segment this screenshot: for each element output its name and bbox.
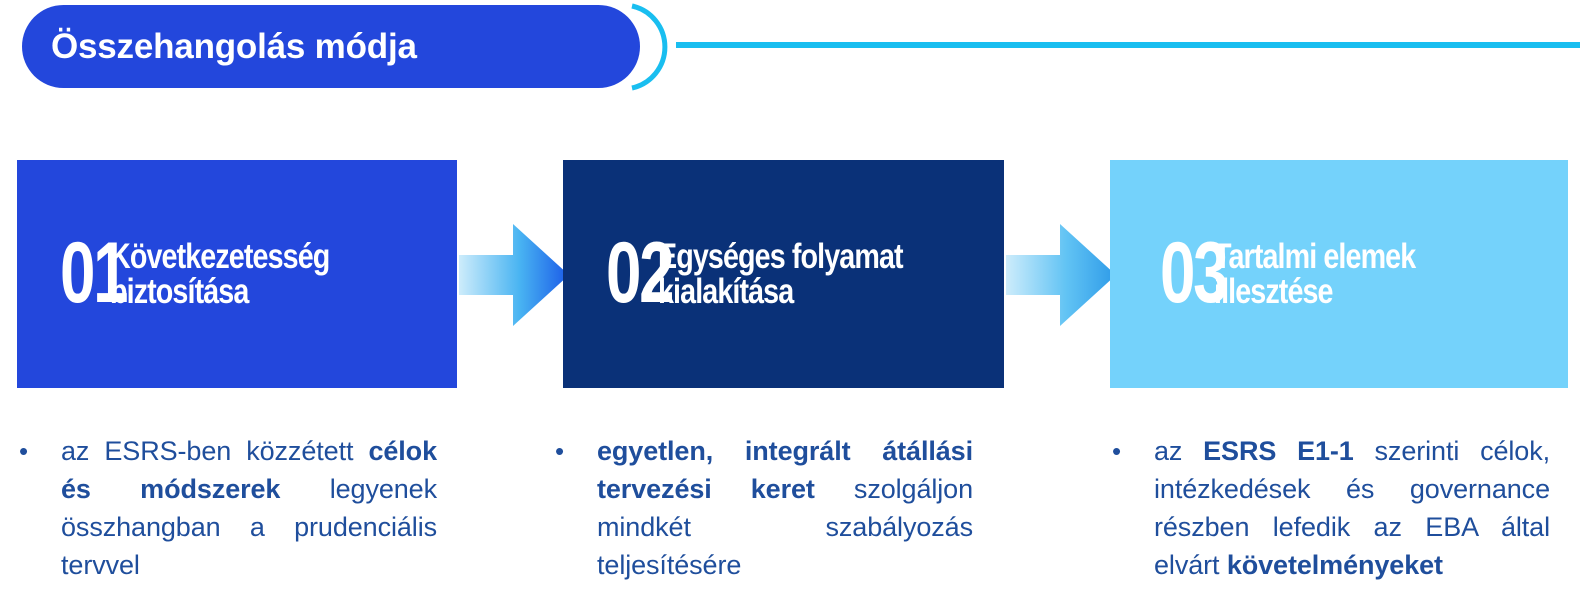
step-title-line2: illesztése (1214, 272, 1333, 311)
step-title-line1: Tartalmi elemek (1214, 237, 1415, 276)
step-box-02[interactable]: 02 Egységes folyamat kialakítása (563, 160, 1004, 388)
step-title-line2: kialakítása (658, 272, 793, 311)
step-title-02: Egységes folyamat kialakítása (658, 239, 903, 309)
step-box-01[interactable]: 01 Következetesség biztosítása (17, 160, 457, 388)
step-content-03: 03 Tartalmi elemek illesztése (1110, 237, 1459, 311)
arrow-right-icon-step-2-to-3 (1006, 222, 1116, 328)
bullet-text-1: az ESRS-ben közzétett célok és módszerek… (61, 432, 437, 584)
steps-row: 01 Következetesség biztosítása 02 Egység… (0, 160, 1580, 388)
step-title-line2: biztosítása (110, 272, 248, 311)
bullet-marker-icon: • (553, 432, 597, 470)
arrow-right-icon-step-1-to-2 (459, 222, 569, 328)
bullet-marker-icon: • (17, 432, 61, 470)
bullet-item-2: • egyetlen, integrált átállási tervezési… (553, 432, 973, 584)
step-title-line1: Következetesség (110, 237, 329, 276)
step-title-line1: Egységes folyamat (658, 237, 903, 276)
bullet-item-3: • az ESRS E1-1 szerinti célok, intézkedé… (1110, 432, 1550, 584)
bullet-item-1: • az ESRS-ben közzétett célok és módszer… (17, 432, 437, 584)
page-title: Összehangolás módja (22, 27, 417, 67)
bullet-marker-icon: • (1110, 432, 1154, 470)
step-box-03[interactable]: 03 Tartalmi elemek illesztése (1110, 160, 1568, 388)
header-horizontal-rule (676, 42, 1580, 48)
header-band: Összehangolás módja (0, 0, 1580, 100)
bullet-text-2: egyetlen, integrált átállási tervezési k… (597, 432, 973, 584)
step-content-01: 01 Következetesség biztosítása (17, 237, 377, 311)
bullets-row: • az ESRS-ben közzétett célok és módszer… (0, 432, 1580, 605)
bullet-text-3: az ESRS E1-1 szerinti célok, intézkedése… (1154, 432, 1550, 584)
header-title-pill: Összehangolás módja (22, 5, 640, 88)
step-content-02: 02 Egységes folyamat kialakítása (563, 237, 956, 311)
step-title-03: Tartalmi elemek illesztése (1214, 239, 1415, 309)
step-title-01: Következetesség biztosítása (110, 239, 329, 309)
